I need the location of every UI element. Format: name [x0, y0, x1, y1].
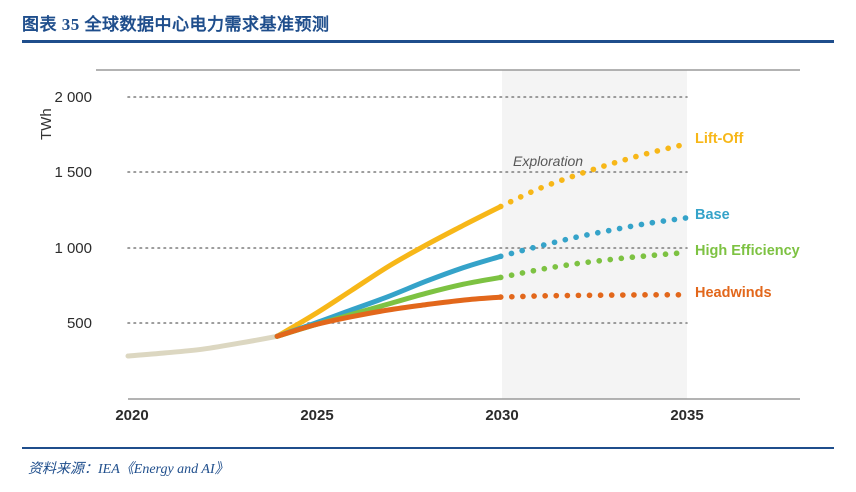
header-divider [22, 40, 834, 43]
x-tick-2035: 2035 [647, 407, 727, 424]
chart-container: TWh 2 000 1 500 1 000 500 2020 2025 2030… [0, 52, 856, 442]
y-tick-2000: 2 000 [20, 89, 92, 106]
x-tick-2020: 2020 [92, 407, 172, 424]
y-tick-1500: 1 500 [20, 164, 92, 181]
series-label-headwinds: Headwinds [695, 285, 772, 301]
y-axis-title: TWh [38, 108, 55, 140]
exploration-shaded-region [502, 70, 687, 399]
source-note: 资料来源：IEA《Energy and AI》 [28, 458, 229, 478]
y-tick-500: 500 [20, 315, 92, 332]
figure-header: 图表 35 全球数据中心电力需求基准预测 [22, 10, 834, 44]
series-line-lift-off [277, 207, 501, 337]
exploration-annotation: Exploration [513, 153, 583, 169]
page-title: 图表 35 全球数据中心电力需求基准预测 [22, 10, 834, 35]
series-label-base: Base [695, 207, 730, 223]
y-tick-1000: 1 000 [20, 240, 92, 257]
x-tick-2030: 2030 [462, 407, 542, 424]
footer-divider [22, 447, 834, 449]
series-label-lift-off: Lift-Off [695, 131, 743, 147]
series-line-historical [128, 336, 277, 356]
series-label-high-efficiency: High Efficiency [695, 243, 800, 259]
figure-page: 图表 35 全球数据中心电力需求基准预测 TWh 2 000 1 [0, 0, 856, 492]
x-tick-2025: 2025 [277, 407, 357, 424]
